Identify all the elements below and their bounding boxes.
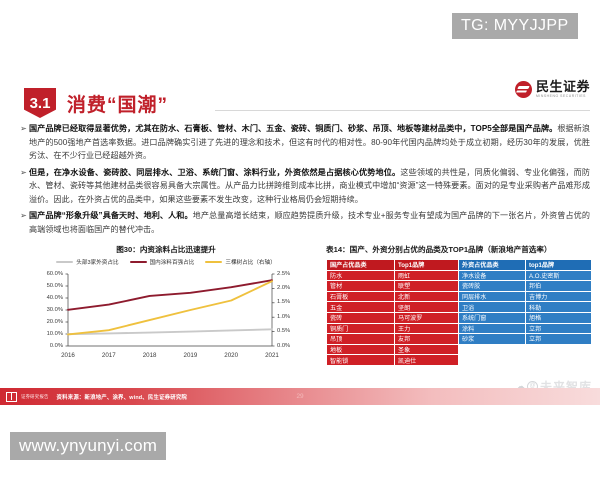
table-cell: 友邦 bbox=[395, 334, 459, 345]
table-header-cell: Top1品牌 bbox=[395, 260, 459, 271]
y-axis-tick-label: 30.0% bbox=[22, 307, 63, 313]
y2-axis-tick-label: 2.5% bbox=[277, 271, 290, 277]
legend-label: 三棵树占比（右轴） bbox=[225, 258, 275, 266]
table-body: 国产占优品类Top1品牌外资占优品类top1品牌防水雨虹净水设备A.O.史密斯管… bbox=[327, 260, 592, 366]
y-axis-tick-label: 60.0% bbox=[22, 271, 63, 277]
y-axis-tick-label: 20.0% bbox=[22, 319, 63, 325]
table-cell: 雨虹 bbox=[395, 270, 459, 281]
table-cell: 系统门窗 bbox=[459, 312, 526, 323]
table-cell: 石膏板 bbox=[327, 291, 395, 302]
table-cell: 旭格 bbox=[526, 312, 592, 323]
table-cell-empty bbox=[459, 355, 526, 366]
table-caption: 表14：国产、外资分别占优的品类及TOP1品牌（新浪地产首选率） bbox=[326, 244, 591, 255]
table-cell: 凯迪仕 bbox=[395, 355, 459, 366]
table-cell: 卫浴 bbox=[459, 302, 526, 313]
table-row: 智能锁凯迪仕 bbox=[327, 355, 592, 366]
table-cell: 吉博力 bbox=[526, 291, 592, 302]
table-cell: 北新 bbox=[395, 291, 459, 302]
brand-name-cn: 民生证券 bbox=[536, 80, 590, 93]
table-cell: 涂料 bbox=[459, 323, 526, 334]
table-header-cell: 国产占优品类 bbox=[327, 260, 395, 271]
section-number-badge: 3.1 bbox=[24, 88, 56, 118]
legend-swatch bbox=[56, 261, 73, 263]
x-axis-tick-label: 2019 bbox=[176, 352, 204, 359]
table-row: 管材联塑瓷砖胶邦伯 bbox=[327, 281, 592, 292]
table-row: 五金坚朗卫浴科勒 bbox=[327, 302, 592, 313]
heading-divider bbox=[215, 110, 590, 111]
table-row: 石膏板北新同层排水吉博力 bbox=[327, 291, 592, 302]
bullet-lead: 国产品牌“形象升级”具备天时、地利、人和。 bbox=[29, 211, 193, 220]
url-watermark: www.ynyunyi.com bbox=[10, 432, 166, 460]
x-axis-tick-label: 2020 bbox=[217, 352, 245, 359]
bullet-text: 但是，在净水设备、瓷砖胶、同层排水、卫浴、系统门窗、涂料行业，外资依然是占据核心… bbox=[29, 166, 590, 207]
brand-logo: 民生证券 MINSHENG SECURITIES bbox=[515, 80, 590, 98]
bullet-marker-icon: ➢ bbox=[18, 166, 29, 207]
brand-text: 民生证券 MINSHENG SECURITIES bbox=[536, 80, 590, 98]
figure-caption: 图30：内资涂料占比迅速提升 bbox=[22, 244, 310, 255]
legend-swatch bbox=[205, 261, 222, 263]
table-cell: 防水 bbox=[327, 270, 395, 281]
body-content: ➢ 国产品牌已经取得显著优势，尤其在防水、石膏板、管材、木门、五金、瓷砖、铜质门… bbox=[18, 122, 590, 239]
y2-axis-tick-label: 1.0% bbox=[277, 314, 290, 320]
x-axis-tick-label: 2017 bbox=[95, 352, 123, 359]
y2-axis-tick-label: 2.0% bbox=[277, 285, 290, 291]
y-axis-tick-label: 40.0% bbox=[22, 295, 63, 301]
x-axis-tick-label: 2018 bbox=[136, 352, 164, 359]
table-row: 地板圣象 bbox=[327, 344, 592, 355]
table-cell: 智能锁 bbox=[327, 355, 395, 366]
table-cell: 砂浆 bbox=[459, 334, 526, 345]
y2-axis-tick-label: 0.5% bbox=[277, 328, 290, 334]
table-cell: 地板 bbox=[327, 344, 395, 355]
section-heading: 3.1 消费“国潮” bbox=[24, 88, 168, 118]
bullet-text: 国产品牌“形象升级”具备天时、地利、人和。地产总量高增长结束，顺应趋势提质升级，… bbox=[29, 209, 590, 236]
legend-item: 头部3家外资占比 bbox=[56, 258, 118, 266]
brand-mark-icon bbox=[515, 81, 532, 98]
figure-panel: 图30：内资涂料占比迅速提升 头部3家外资占比 国内涂料百强占比 三棵树占比（右… bbox=[22, 244, 310, 376]
table-cell: 科勒 bbox=[526, 302, 592, 313]
x-axis-tick-label: 2021 bbox=[258, 352, 286, 359]
table-cell: 瓷砖胶 bbox=[459, 281, 526, 292]
bullet-marker-icon: ➢ bbox=[18, 209, 29, 236]
y-axis-tick-label: 10.0% bbox=[22, 331, 63, 337]
bullet-marker-icon: ➢ bbox=[18, 122, 29, 163]
x-axis-tick-label: 2016 bbox=[54, 352, 82, 359]
y-axis-tick-label: 0.0% bbox=[22, 343, 63, 349]
table-cell: 邦伯 bbox=[526, 281, 592, 292]
bullet-item: ➢ 国产品牌“形象升级”具备天时、地利、人和。地产总量高增长结束，顺应趋势提质升… bbox=[18, 209, 590, 236]
table-cell: 王力 bbox=[395, 323, 459, 334]
section-title: 消费“国潮” bbox=[67, 90, 168, 117]
footer-bar: 证券研究报告 资料来源：新浪地产、涂界、wind、民生证券研究院 29 bbox=[0, 388, 600, 405]
tg-watermark-tag: TG: MYYJJPP bbox=[452, 13, 578, 39]
bullet-lead: 但是，在净水设备、瓷砖胶、同层排水、卫浴、系统门窗、涂料行业，外资依然是占据核心… bbox=[29, 168, 400, 177]
table-header-cell: top1品牌 bbox=[526, 260, 592, 271]
legend-item: 国内涂料百强占比 bbox=[130, 258, 195, 266]
table-cell: 马可波罗 bbox=[395, 312, 459, 323]
table-cell-empty bbox=[526, 344, 592, 355]
table-cell: A.O.史密斯 bbox=[526, 270, 592, 281]
table-row: 吊顶友邦砂浆立邦 bbox=[327, 334, 592, 345]
legend-swatch bbox=[130, 261, 147, 263]
line-chart: 头部3家外资占比 国内涂料百强占比 三棵树占比（右轴） 0.0%10.0%20.… bbox=[22, 258, 310, 376]
legend-label: 国内涂料百强占比 bbox=[150, 258, 195, 266]
table-cell: 立邦 bbox=[526, 323, 592, 334]
table-cell: 铜质门 bbox=[327, 323, 395, 334]
table-cell: 瓷砖 bbox=[327, 312, 395, 323]
table-row: 防水雨虹净水设备A.O.史密斯 bbox=[327, 270, 592, 281]
chart-legend: 头部3家外资占比 国内涂料百强占比 三棵树占比（右轴） bbox=[22, 258, 310, 266]
table-header-cell: 外资占优品类 bbox=[459, 260, 526, 271]
bullet-item: ➢ 但是，在净水设备、瓷砖胶、同层排水、卫浴、系统门窗、涂料行业，外资依然是占据… bbox=[18, 166, 590, 207]
y-axis-tick-label: 50.0% bbox=[22, 283, 63, 289]
table-row: 瓷砖马可波罗系统门窗旭格 bbox=[327, 312, 592, 323]
table-cell: 净水设备 bbox=[459, 270, 526, 281]
table-panel: 表14：国产、外资分别占优的品类及TOP1品牌（新浪地产首选率） 国产占优品类T… bbox=[326, 244, 591, 366]
legend-item: 三棵树占比（右轴） bbox=[205, 258, 275, 266]
page-number: 29 bbox=[0, 388, 600, 405]
table-cell: 坚朗 bbox=[395, 302, 459, 313]
table-cell: 吊顶 bbox=[327, 334, 395, 345]
slide-canvas: TG: MYYJJPP 民生证券 MINSHENG SECURITIES 3.1… bbox=[0, 0, 600, 410]
brand-name-en: MINSHENG SECURITIES bbox=[536, 95, 590, 98]
table-cell: 管材 bbox=[327, 281, 395, 292]
table-cell: 联塑 bbox=[395, 281, 459, 292]
table-header-row: 国产占优品类Top1品牌外资占优品类top1品牌 bbox=[327, 260, 592, 271]
bullet-item: ➢ 国产品牌已经取得显著优势，尤其在防水、石膏板、管材、木门、五金、瓷砖、铜质门… bbox=[18, 122, 590, 163]
y2-axis-tick-label: 1.5% bbox=[277, 299, 290, 305]
bullet-text: 国产品牌已经取得显著优势，尤其在防水、石膏板、管材、木门、五金、瓷砖、铜质门、砂… bbox=[29, 122, 590, 163]
table-cell-empty bbox=[459, 344, 526, 355]
table-cell-empty bbox=[526, 355, 592, 366]
bullet-lead: 国产品牌已经取得显著优势，尤其在防水、石膏板、管材、木门、五金、瓷砖、铜质门、砂… bbox=[29, 124, 557, 133]
comparison-table: 国产占优品类Top1品牌外资占优品类top1品牌防水雨虹净水设备A.O.史密斯管… bbox=[326, 259, 592, 366]
y2-axis-tick-label: 0.0% bbox=[277, 343, 290, 349]
table-cell: 同层排水 bbox=[459, 291, 526, 302]
chart-plot-area: 0.0%10.0%20.0%30.0%40.0%50.0%60.0%0.0%0.… bbox=[22, 268, 310, 368]
table-cell: 圣象 bbox=[395, 344, 459, 355]
table-cell: 五金 bbox=[327, 302, 395, 313]
table-row: 铜质门王力涂料立邦 bbox=[327, 323, 592, 334]
table-cell: 立邦 bbox=[526, 334, 592, 345]
legend-label: 头部3家外资占比 bbox=[76, 258, 118, 266]
